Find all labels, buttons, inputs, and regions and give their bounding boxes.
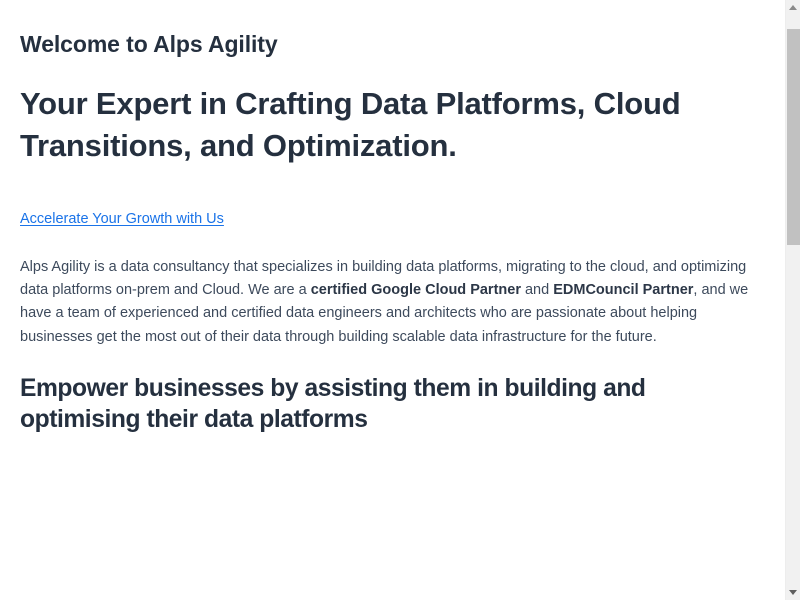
hero-media-placeholder bbox=[20, 170, 720, 200]
welcome-heading: Welcome to Alps Agility bbox=[20, 31, 278, 57]
browser-viewport: Welcome to Alps Agility Your Expert in C… bbox=[0, 0, 800, 600]
accelerate-growth-link[interactable]: Accelerate Your Growth with Us bbox=[20, 211, 224, 228]
hero-heading: Your Expert in Crafting Data Platforms, … bbox=[20, 83, 720, 167]
mission-heading: Empower businesses by assisting them in … bbox=[20, 373, 690, 435]
intro-text-part2: and bbox=[521, 282, 553, 298]
intro-bold-google-partner: certified Google Cloud Partner bbox=[311, 282, 521, 298]
scroll-up-arrow-icon bbox=[789, 5, 797, 10]
intro-paragraph: Alps Agility is a data consultancy that … bbox=[20, 256, 754, 349]
vertical-scrollbar[interactable] bbox=[785, 0, 800, 600]
intro-bold-edmcouncil-partner: EDMCouncil Partner bbox=[553, 282, 693, 298]
page-content: Welcome to Alps Agility Your Expert in C… bbox=[0, 0, 785, 600]
scrollbar-down-button[interactable] bbox=[786, 585, 800, 600]
scrollbar-thumb[interactable] bbox=[787, 29, 800, 245]
scroll-down-arrow-icon bbox=[789, 590, 797, 595]
scrollbar-up-button[interactable] bbox=[786, 0, 800, 15]
